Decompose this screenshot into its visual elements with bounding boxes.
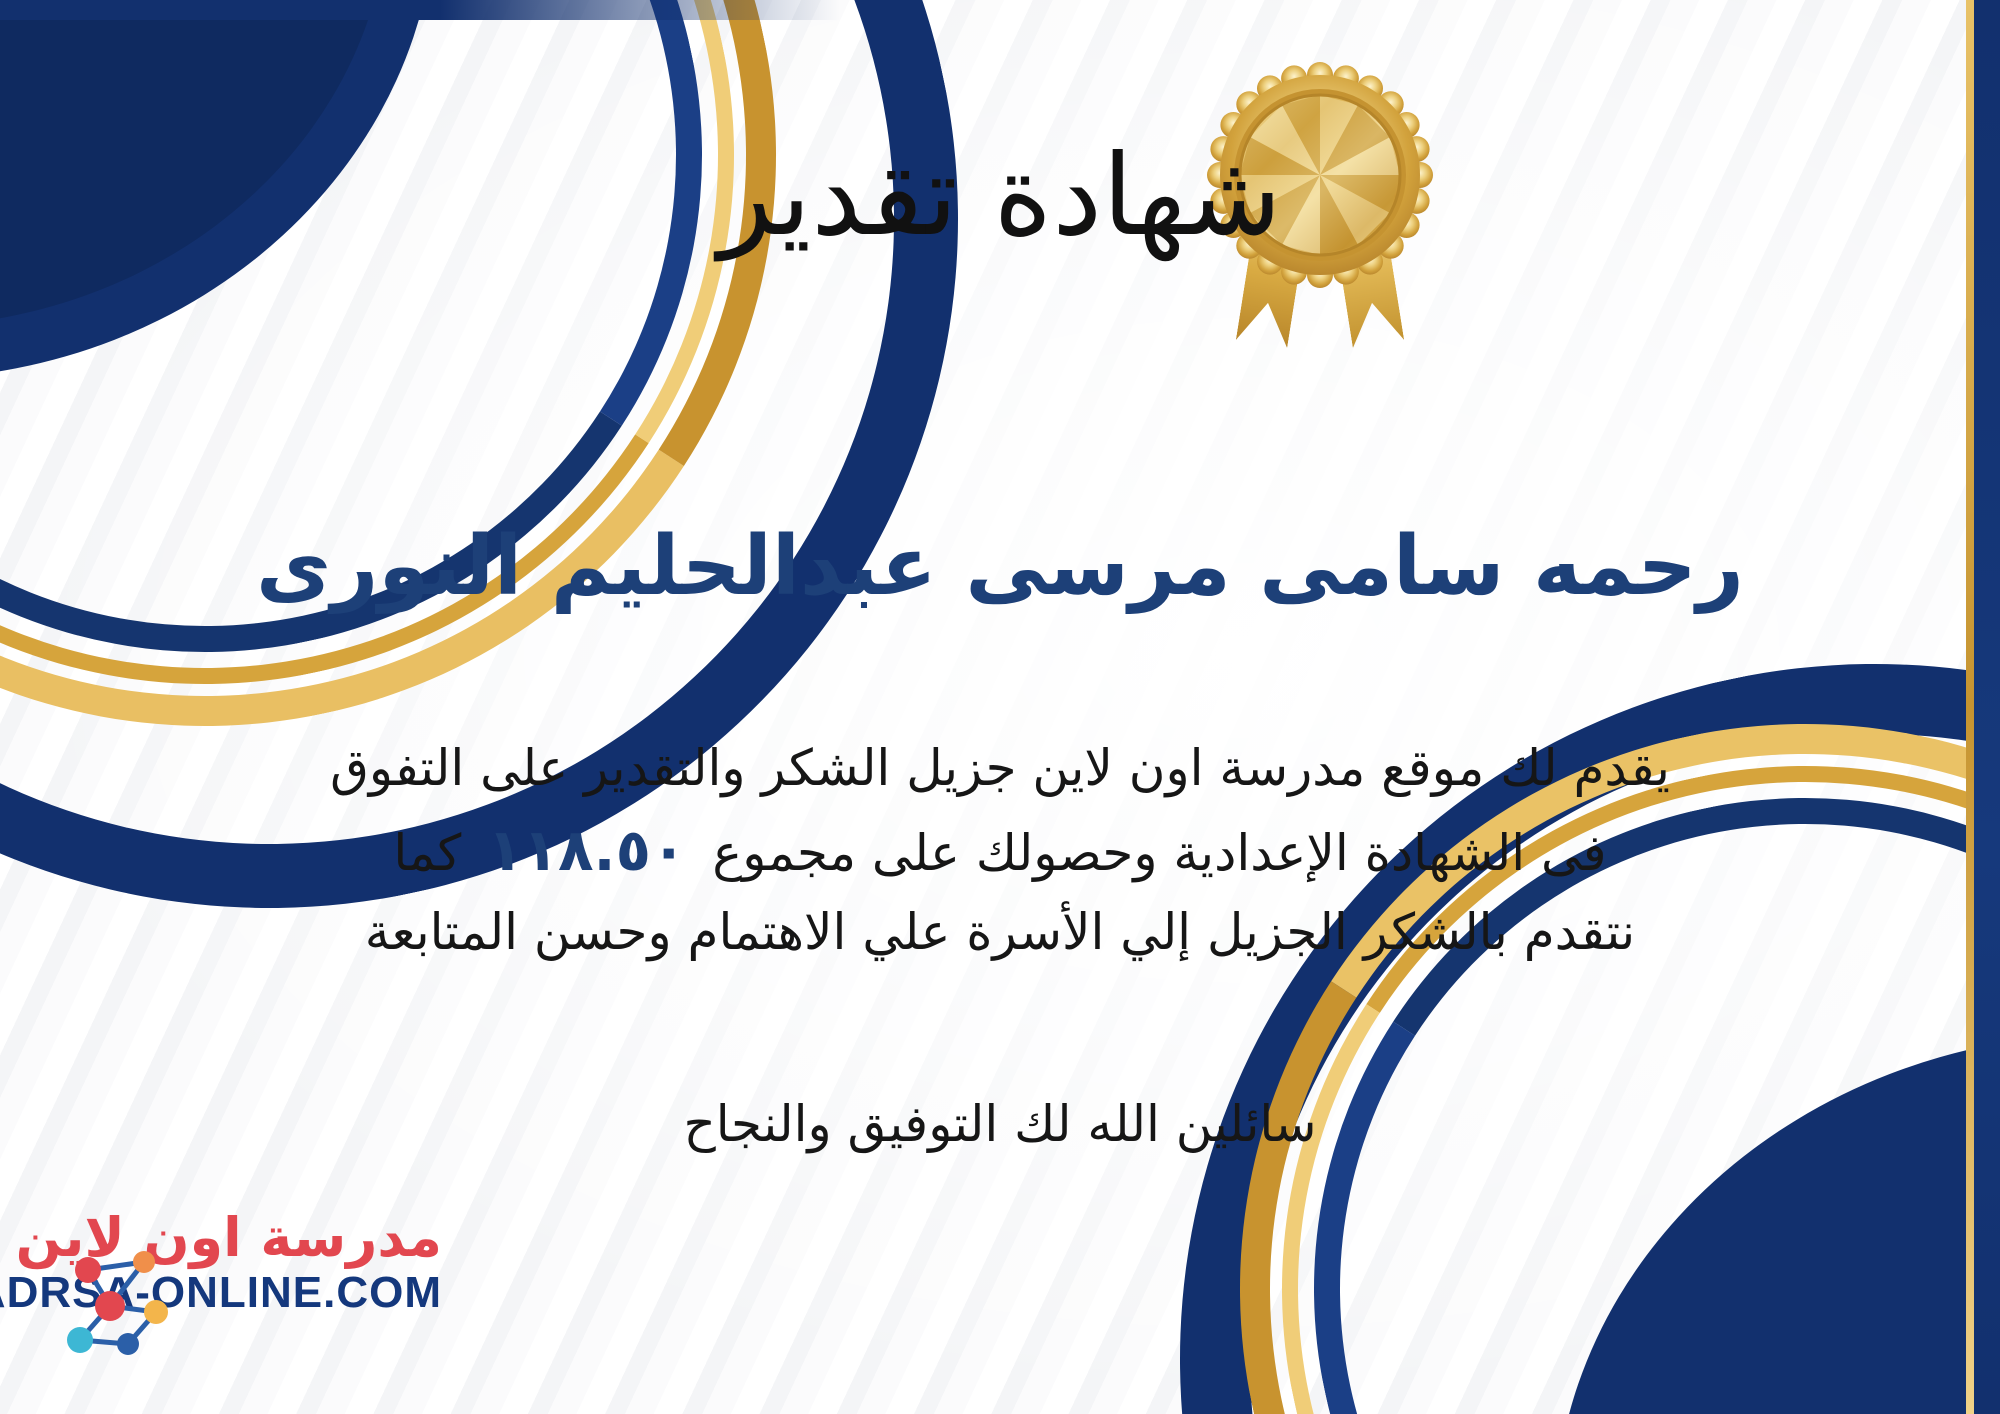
body-line-1: يقدم لك موقع مدرسة اون لاين جزيل الشكر و… [150,730,1850,806]
body-line-2-prefix: فى الشهادة الإعدادية وحصولك على مجموع [712,824,1606,882]
closing-line: سائلين الله لك التوفيق والنجاح [0,1095,2000,1153]
network-nodes-icon [52,1240,192,1360]
body-line-2: فى الشهادة الإعدادية وحصولك على مجموع١١٨… [150,806,1850,894]
body-line-3: نتقدم بالشكر الجزيل إلي الأسرة علي الاهت… [150,894,1850,970]
certificate-page: شهادة تقدير رحمه سامى مرسى عبدالحليم الن… [0,0,2000,1414]
recipient-name: رحمه سامى مرسى عبدالحليم النورى [0,520,2000,614]
score-value: ١١٨.٥٠ [461,806,712,894]
page-title: شهادة تقدير [0,135,2000,258]
certificate-content: شهادة تقدير رحمه سامى مرسى عبدالحليم الن… [0,0,2000,1414]
body-text-block: يقدم لك موقع مدرسة اون لاين جزيل الشكر و… [150,730,1850,970]
brand-logo[interactable]: مدرسة اون لاين MADRSA-ONLINE.COM [34,1206,594,1366]
body-line-2-suffix: كما [393,824,461,882]
